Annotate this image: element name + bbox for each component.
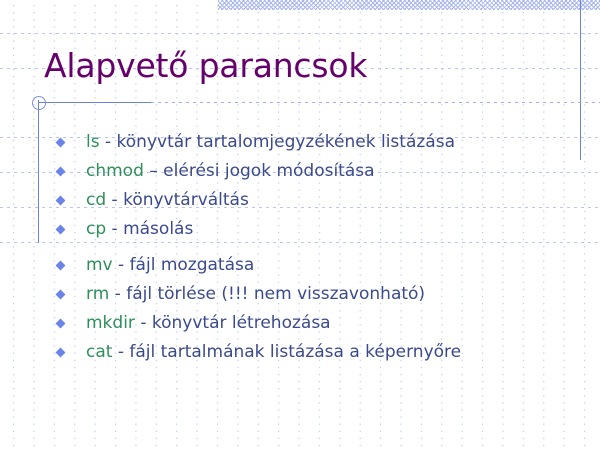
list-item: rm - fájl törlése (!!! nem visszavonható… <box>56 280 586 309</box>
list-item: mv - fájl mozgatása <box>56 251 586 280</box>
list-item: cd - könyvtárváltás <box>56 186 586 215</box>
diamond-bullet-icon <box>56 261 66 271</box>
diamond-bullet-icon <box>56 167 66 177</box>
command-description: - fájl törlése (!!! nem visszavonható) <box>109 284 425 304</box>
list-item: ls - könyvtár tartalomjegyzékének listáz… <box>56 128 586 157</box>
command-bullet-list: ls - könyvtár tartalomjegyzékének listáz… <box>56 128 586 367</box>
command-description: - könyvtár tartalomjegyzékének listázása <box>100 132 455 152</box>
diamond-bullet-icon <box>56 138 66 148</box>
diamond-bullet-icon <box>56 290 66 300</box>
command-name: mv <box>86 255 113 275</box>
list-item-text: cat - fájl tartalmának listázása a képer… <box>86 342 461 363</box>
list-item-text: cd - könyvtárváltás <box>86 190 249 211</box>
list-item: cat - fájl tartalmának listázása a képer… <box>56 338 586 367</box>
background-dashed-rule <box>0 33 600 34</box>
command-description: - másolás <box>106 219 193 239</box>
diamond-bullet-icon <box>56 348 66 358</box>
diamond-bullet-icon <box>56 225 66 235</box>
list-item-text: cp - másolás <box>86 219 193 240</box>
command-name: cat <box>86 342 112 362</box>
title-underline-dashed <box>151 102 600 103</box>
command-description: - könyvtár létrehozása <box>135 313 331 333</box>
left-vertical-rule <box>38 100 39 243</box>
command-name: mkdir <box>86 313 135 333</box>
top-hatched-band <box>218 0 600 10</box>
command-description: – elérési jogok módosítása <box>144 161 375 181</box>
command-name: cp <box>86 219 106 239</box>
command-name: ls <box>86 132 100 152</box>
diamond-bullet-icon <box>56 196 66 206</box>
command-description: - könyvtárváltás <box>106 190 249 210</box>
command-name: rm <box>86 284 109 304</box>
command-description: - fájl mozgatása <box>113 255 255 275</box>
title-underline-solid <box>38 102 151 103</box>
list-item: cp - másolás <box>56 215 586 244</box>
list-item-text: chmod – elérési jogok módosítása <box>86 161 375 182</box>
command-description: - fájl tartalmának listázása a képernyőr… <box>112 342 461 362</box>
list-item-text: rm - fájl törlése (!!! nem visszavonható… <box>86 284 425 305</box>
list-item: chmod – elérési jogok módosítása <box>56 157 586 186</box>
page-title: Alapvető parancsok <box>44 46 367 86</box>
diamond-bullet-icon <box>56 319 66 329</box>
list-item-text: mv - fájl mozgatása <box>86 255 254 276</box>
list-item-text: ls - könyvtár tartalomjegyzékének listáz… <box>86 132 455 153</box>
command-name: cd <box>86 190 106 210</box>
list-item: mkdir - könyvtár létrehozása <box>56 309 586 338</box>
command-name: chmod <box>86 161 144 181</box>
presentation-slide: Alapvető parancsok ls - könyvtár tartalo… <box>0 0 600 450</box>
circle-marker-icon <box>32 96 46 110</box>
list-item-text: mkdir - könyvtár létrehozása <box>86 313 331 334</box>
